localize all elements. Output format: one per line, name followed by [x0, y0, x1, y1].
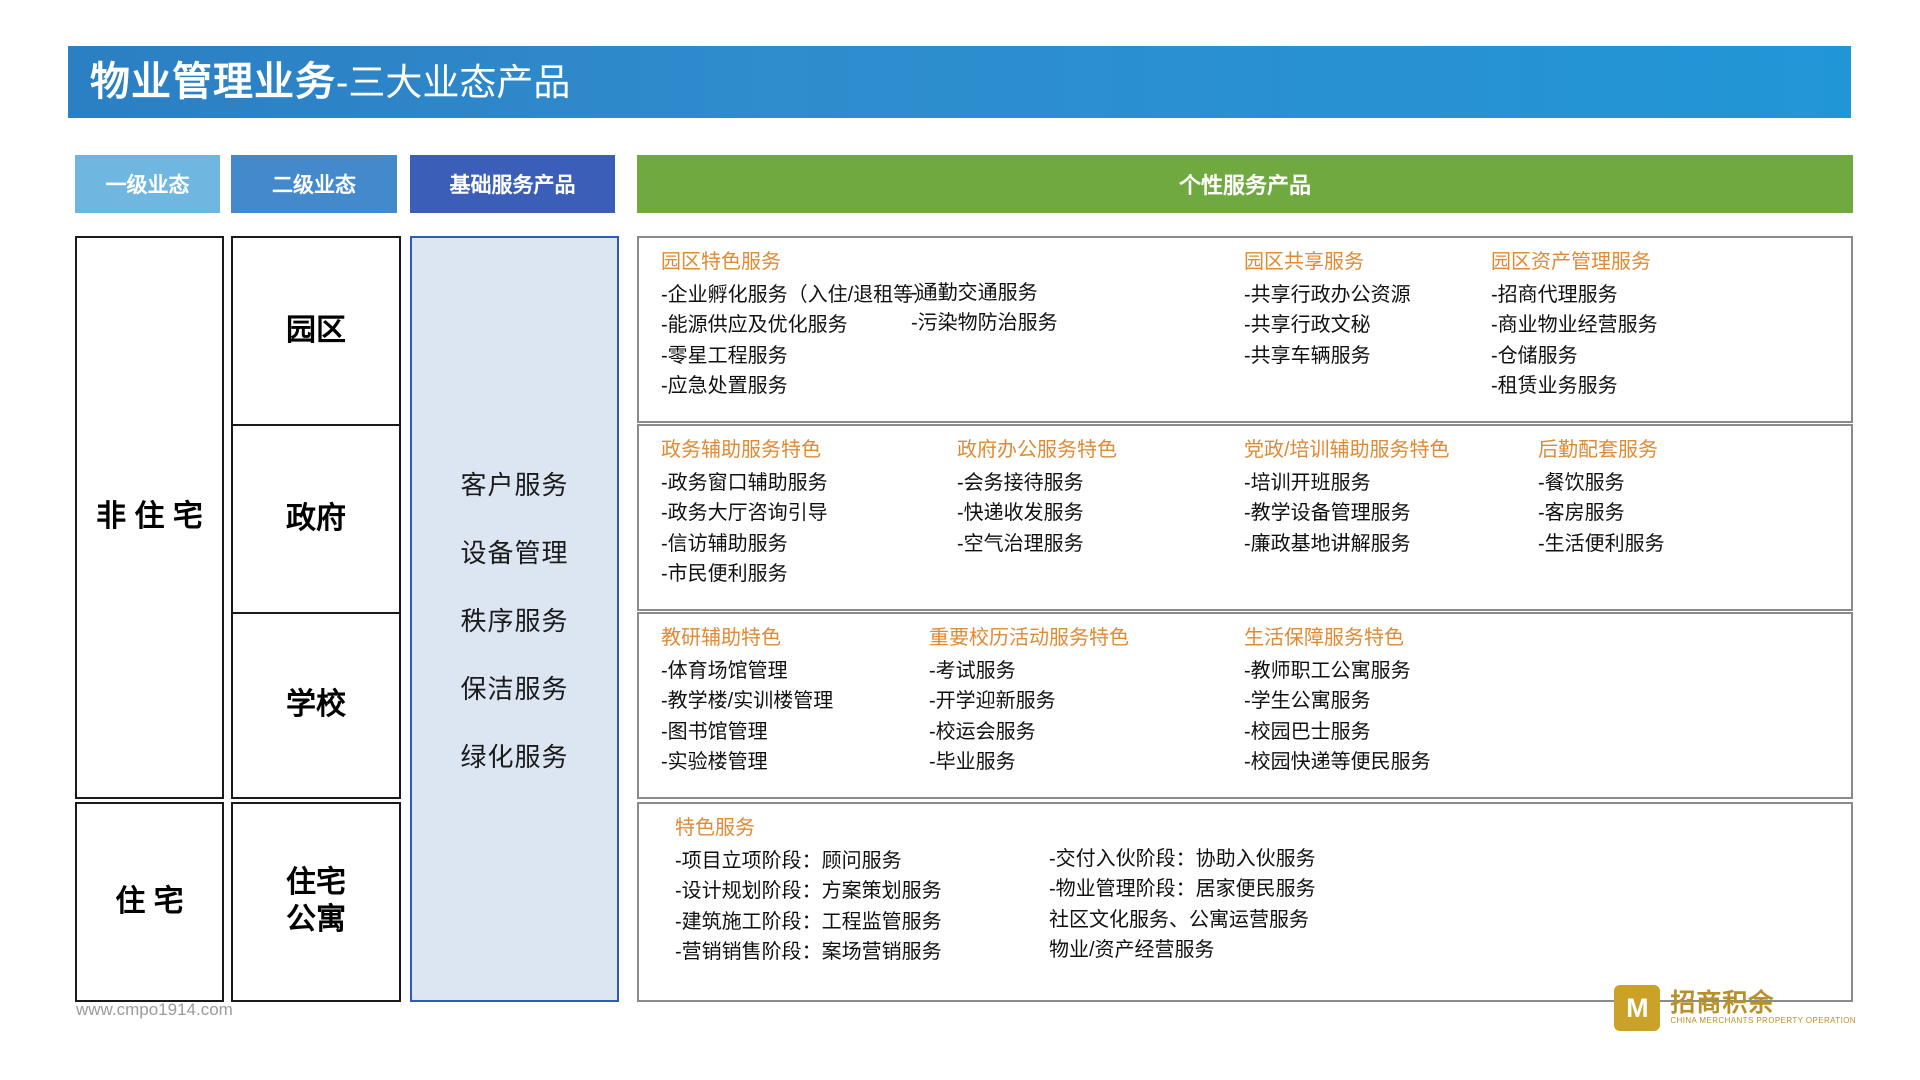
service-item: -应急处置服务 — [661, 371, 1261, 401]
level1-label: 住 宅 — [115, 884, 183, 921]
level1-label: 非 住 宅 — [96, 499, 203, 536]
header-level1: 一级业态 — [75, 155, 220, 213]
service-item: -学生公寓服务 — [1244, 686, 1431, 716]
service-category: 后勤配套服务 — [1538, 438, 1665, 463]
personalized-panel-residential: 特色服务 -项目立项阶段：顾问服务 -设计规划阶段：方案策划服务 -建筑施工阶段… — [637, 802, 1853, 1002]
service-category: 生活保障服务特色 — [1244, 626, 1431, 651]
service-item: -教学楼/实训楼管理 — [661, 686, 833, 716]
service-group: 特色服务 -项目立项阶段：顾问服务 -设计规划阶段：方案策划服务 -建筑施工阶段… — [675, 816, 942, 968]
service-item: -零星工程服务 — [661, 341, 1261, 371]
service-group: 园区资产管理服务 -招商代理服务 -商业物业经营服务 -仓储服务 -租赁业务服务 — [1491, 250, 1658, 402]
header-level2: 二级业态 — [231, 155, 397, 213]
service-item: -空气治理服务 — [957, 529, 1117, 559]
service-item: -会务接待服务 — [957, 468, 1117, 498]
service-group: 园区共享服务 -共享行政办公资源 -共享行政文秘 -共享车辆服务 — [1244, 250, 1411, 371]
service-group: 重要校历活动服务特色 -考试服务 -开学迎新服务 -校运会服务 -毕业服务 — [929, 626, 1129, 778]
service-category: 特色服务 — [675, 816, 942, 841]
logo-name-cn: 招商积余 — [1670, 990, 1856, 1018]
service-category: 党政/培训辅助服务特色 — [1244, 438, 1450, 463]
service-category: 园区特色服务 — [661, 250, 1261, 275]
service-category: 重要校历活动服务特色 — [929, 626, 1129, 651]
service-group: 政府办公服务特色 -会务接待服务 -快递收发服务 -空气治理服务 — [957, 438, 1117, 559]
service-item: -建筑施工阶段：工程监管服务 — [675, 907, 942, 937]
service-item: -招商代理服务 — [1491, 280, 1658, 310]
service-item: -项目立项阶段：顾问服务 — [675, 846, 942, 876]
header-basic-services: 基础服务产品 — [410, 155, 615, 213]
service-item: 物业/资产经营服务 — [1049, 935, 1316, 965]
service-item: -廉政基地讲解服务 — [1244, 529, 1450, 559]
header-personalized-services: 个性服务产品 — [637, 155, 1853, 213]
service-item: -共享行政文秘 — [1244, 310, 1411, 340]
service-item: -污染物防治服务 — [911, 308, 1058, 338]
level1-cell-residential: 住 宅 — [75, 802, 224, 1002]
service-item: -生活便利服务 — [1538, 529, 1665, 559]
service-item: -设计规划阶段：方案策划服务 — [675, 876, 942, 906]
service-item: -信访辅助服务 — [661, 529, 828, 559]
service-category: 园区共享服务 — [1244, 250, 1411, 275]
level2-label: 学校 — [286, 687, 346, 724]
service-item: -教学设备管理服务 — [1244, 498, 1450, 528]
service-item: -体育场馆管理 — [661, 656, 833, 686]
service-item: -仓储服务 — [1491, 341, 1658, 371]
slide-root: 物业管理业务 -三大业态产品 一级业态 二级业态 基础服务产品 个性服务产品 非… — [0, 0, 1920, 1080]
service-group: 教研辅助特色 -体育场馆管理 -教学楼/实训楼管理 -图书馆管理 -实验楼管理 — [661, 626, 833, 778]
logo-name-en: CHINA MERCHANTS PROPERTY OPERATION — [1670, 1017, 1856, 1026]
service-item: -商业物业经营服务 — [1491, 310, 1658, 340]
personalized-panel-school: 教研辅助特色 -体育场馆管理 -教学楼/实训楼管理 -图书馆管理 -实验楼管理 … — [637, 612, 1853, 799]
page-title: 物业管理业务 — [68, 62, 336, 102]
service-item: -毕业服务 — [929, 747, 1129, 777]
level2-cell-school: 学校 — [231, 612, 401, 799]
service-group: 后勤配套服务 -餐饮服务 -客房服务 -生活便利服务 — [1538, 438, 1665, 559]
service-item: 社区文化服务、公寓运营服务 — [1049, 905, 1316, 935]
service-category: 教研辅助特色 — [661, 626, 833, 651]
service-item: -政务窗口辅助服务 — [661, 468, 828, 498]
service-item: -快递收发服务 — [957, 498, 1117, 528]
service-category: 政府办公服务特色 — [957, 438, 1117, 463]
service-item: -教师职工公寓服务 — [1244, 656, 1431, 686]
basic-service-item: 秩序服务 — [460, 601, 568, 638]
page-subtitle: -三大业态产品 — [336, 64, 570, 101]
service-group: 生活保障服务特色 -教师职工公寓服务 -学生公寓服务 -校园巴士服务 -校园快递… — [1244, 626, 1431, 778]
service-group-secondary: -交付入伙阶段：协助入伙服务 -物业管理阶段：居家便民服务 社区文化服务、公寓运… — [1049, 844, 1316, 966]
level2-cell-residential-apartment: 住宅公寓 — [231, 802, 401, 1002]
personalized-panel-government: 政务辅助服务特色 -政务窗口辅助服务 -政务大厅咨询引导 -信访辅助服务 -市民… — [637, 424, 1853, 611]
level2-cell-park: 园区 — [231, 236, 401, 426]
service-item: -开学迎新服务 — [929, 686, 1129, 716]
logo-mark-icon: M — [1614, 985, 1660, 1031]
personalized-panel-park: 园区特色服务 -企业孵化服务（入住/退租等） -能源供应及优化服务 -零星工程服… — [637, 236, 1853, 423]
service-group: 政务辅助服务特色 -政务窗口辅助服务 -政务大厅咨询引导 -信访辅助服务 -市民… — [661, 438, 828, 590]
service-item: -市民便利服务 — [661, 559, 828, 589]
service-item: -营销销售阶段：案场营销服务 — [675, 937, 942, 967]
service-item: -共享行政办公资源 — [1244, 280, 1411, 310]
service-item: -图书馆管理 — [661, 717, 833, 747]
service-item: -通勤交通服务 — [911, 278, 1058, 308]
level2-label: 政府 — [286, 501, 346, 538]
footer-url[interactable]: www.cmpo1914.com — [76, 1000, 233, 1020]
basic-service-item: 绿化服务 — [460, 737, 568, 774]
service-item: -客房服务 — [1538, 498, 1665, 528]
service-group: 党政/培训辅助服务特色 -培训开班服务 -教学设备管理服务 -廉政基地讲解服务 — [1244, 438, 1450, 559]
title-bar: 物业管理业务 -三大业态产品 — [68, 46, 1851, 118]
service-item: -考试服务 — [929, 656, 1129, 686]
service-group-secondary: -通勤交通服务 -污染物防治服务 — [911, 278, 1058, 339]
level2-label: 园区 — [286, 313, 346, 350]
service-item: -校运会服务 — [929, 717, 1129, 747]
service-item: -交付入伙阶段：协助入伙服务 — [1049, 844, 1316, 874]
basic-service-item: 保洁服务 — [460, 669, 568, 706]
basic-services-panel: 客户服务 设备管理 秩序服务 保洁服务 绿化服务 — [410, 236, 619, 1002]
service-item: -实验楼管理 — [661, 747, 833, 777]
service-item: -物业管理阶段：居家便民服务 — [1049, 874, 1316, 904]
service-item: -租赁业务服务 — [1491, 371, 1658, 401]
basic-service-item: 设备管理 — [460, 533, 568, 570]
level1-cell-non-residential: 非 住 宅 — [75, 236, 224, 799]
level2-cell-government: 政府 — [231, 424, 401, 614]
service-item: -校园快递等便民服务 — [1244, 747, 1431, 777]
level2-label: 住宅公寓 — [286, 865, 346, 938]
service-item: -培训开班服务 — [1244, 468, 1450, 498]
service-item: -餐饮服务 — [1538, 468, 1665, 498]
service-item: -校园巴士服务 — [1244, 717, 1431, 747]
service-category: 园区资产管理服务 — [1491, 250, 1658, 275]
service-item: -政务大厅咨询引导 — [661, 498, 828, 528]
company-logo: M 招商积余 CHINA MERCHANTS PROPERTY OPERATIO… — [1614, 985, 1856, 1031]
basic-service-item: 客户服务 — [460, 465, 568, 502]
service-item: -共享车辆服务 — [1244, 341, 1411, 371]
service-category: 政务辅助服务特色 — [661, 438, 828, 463]
